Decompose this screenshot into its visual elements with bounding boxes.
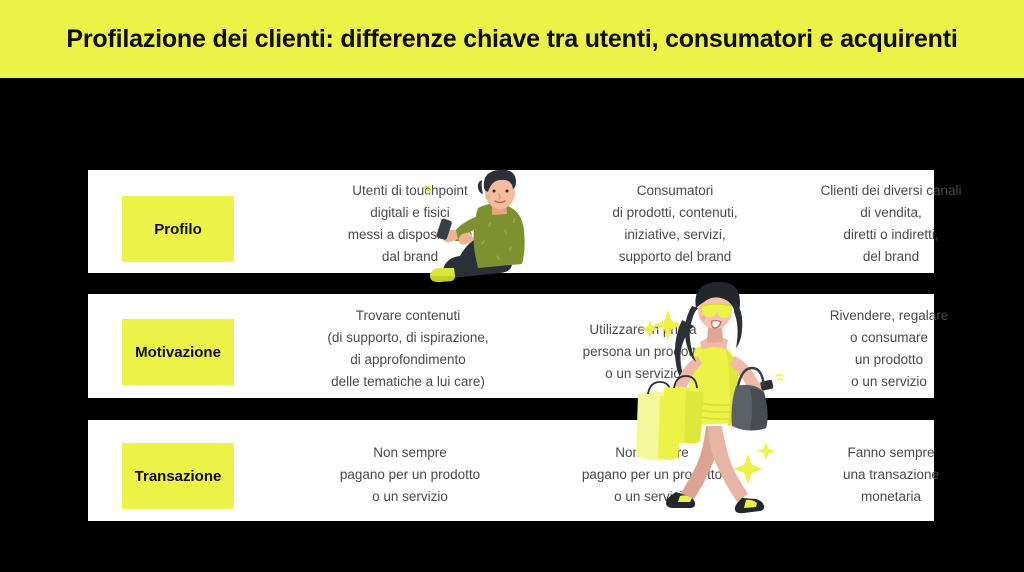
table-row: Motivazione Trovare contenuti(di support… [88,294,934,398]
cell-motivazione-consumatore: Utilizzare in primapersona un prodottoo … [508,319,778,385]
row-label-motivazione: Motivazione [122,319,234,385]
row-label-profilo: Profilo [122,196,234,262]
cell-transazione-acquirente: Fanno sempreuna transazionemonetaria [760,442,1022,508]
row-label-transazione: Transazione [122,443,234,509]
table-row: Transazione Non semprepagano per un prod… [88,420,934,521]
title-bar: Profilazione dei clienti: differenze chi… [0,0,1024,78]
cell-profilo-acquirente: Clienti dei diversi canalidi vendita,dir… [756,180,1024,267]
cell-motivazione-acquirente: Rivendere, regalareo consumareun prodott… [753,305,1024,392]
cell-profilo-utente: Utenti di touchpointdigitali e fisicimes… [286,180,534,267]
table-row: Profilo Utenti di touchpointdigitali e f… [88,170,934,273]
table-header-row: TIPOLOGIA DI CLIENTE UTENTE CONSUMATORE … [0,78,1024,170]
page-title: Profilazione dei clienti: differenze chi… [66,25,957,54]
cell-transazione-utente: Non semprepagano per un prodottoo un ser… [286,442,534,508]
cell-transazione-consumatore: Non semprepagano per un prodottoo un ser… [518,442,786,508]
